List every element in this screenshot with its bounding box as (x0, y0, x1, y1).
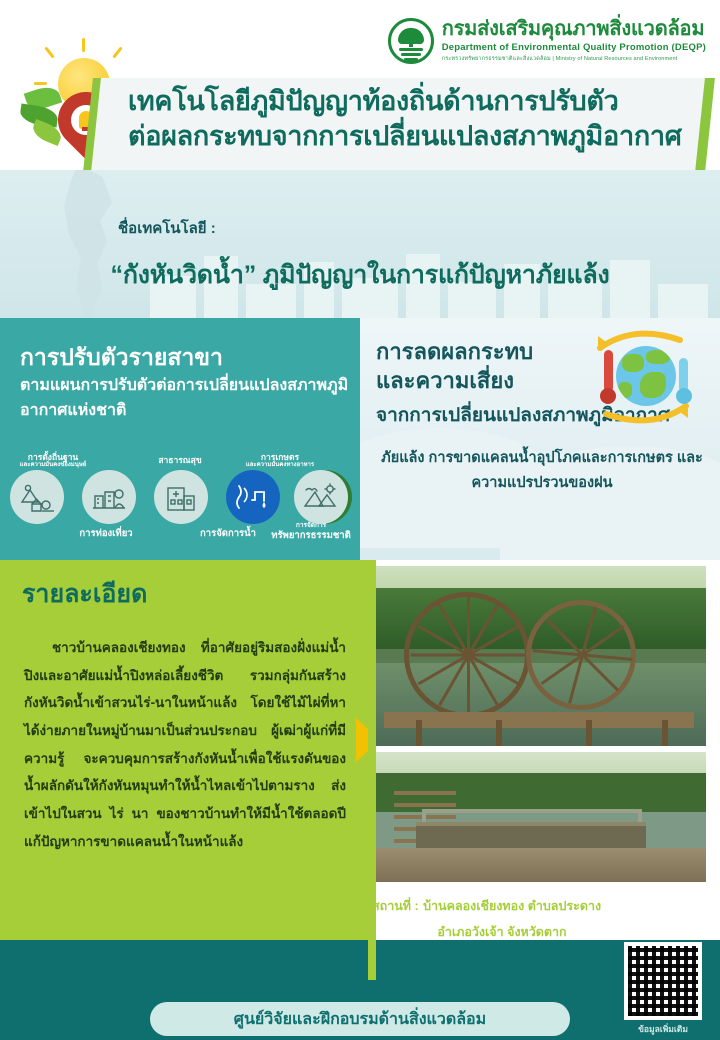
poster-title: เทคโนโลยีภูมิปัญญาท้องถิ่นด้านการปรับตัว… (128, 84, 708, 153)
details-panel: รายละเอียด ชาวบ้านคลองเชียงทอง ที่อาศัยอ… (0, 560, 368, 980)
footer-organization-label: ศูนย์วิจัยและฝึกอบรมด้านสิ่งแวดล้อม (234, 1007, 486, 1032)
water-management-icon[interactable] (226, 470, 280, 524)
sector-label-natural-resources: การจัดการ ทรัพยากรธรรมชาติ (262, 522, 360, 541)
deqp-logo: กรมส่งเสริมคุณภาพสิ่งแวดล้อม Department … (388, 18, 706, 64)
bamboo-water-wheel-photo (376, 566, 706, 746)
org-name-english: Department of Environmental Quality Prom… (442, 42, 706, 53)
settlement-icon[interactable] (10, 470, 64, 524)
impact-risk-panel: การลดผลกระทบ และความเสี่ยง จากการเปลี่ยน… (360, 318, 720, 560)
impact-panel-heading: การลดผลกระทบ และความเสี่ยง (376, 338, 533, 395)
title-line-2: ต่อผลกระทบจากการเปลี่ยนแปลงสภาพภูมิอากาศ (128, 119, 708, 154)
sector-label-settlement: การตั้งถิ่นฐาน และความมั่นคงของมนุษย์ (4, 452, 102, 469)
footer-organization-pill: ศูนย์วิจัยและฝึกอบรมด้านสิ่งแวดล้อม (150, 1002, 570, 1036)
technology-label: ชื่อเทคโนโลยี : (118, 216, 216, 240)
org-ministry-line: กระทรวงทรัพยากรธรรมชาติและสิ่งแวดล้อม | … (442, 55, 706, 63)
location-block: สถานที่ : บ้านคลองเชียงทอง ตำบลประดาง อำ… (372, 896, 672, 942)
deqp-emblem-icon (388, 18, 434, 64)
sector-label-health: สาธารณสุข (140, 455, 220, 465)
water-wheel-raft-photo (376, 752, 706, 882)
sector-panel-heading: การปรับตัวรายสาขา (20, 340, 223, 376)
bottom-teal-strip (0, 940, 720, 982)
qr-caption: ข้อมูลเพิ่มเติม (624, 1022, 702, 1036)
location-line-2: อำเภอวังเจ้า จังหวัดตาก (372, 922, 672, 942)
details-body-text: ชาวบ้านคลองเชียงทอง ที่อาศัยอยู่ริมสองฝั… (24, 634, 346, 855)
sector-label-tourism: การท่องเที่ยว (56, 528, 156, 539)
natural-resources-icon[interactable] (294, 470, 348, 524)
impact-panel-body: ภัยแล้ง การขาดแคลนน้ำอุปโภคและการเกษตร แ… (374, 446, 710, 497)
poster-root: กรมส่งเสริมคุณภาพสิ่งแวดล้อม Department … (0, 0, 720, 1040)
globe-thermometer-icon (582, 330, 702, 424)
poster-header: กรมส่งเสริมคุณภาพสิ่งแวดล้อม Department … (0, 0, 720, 190)
technology-name: “กังหันวิดน้ำ” ภูมิปัญญาในการแก้ปัญหาภัย… (0, 255, 720, 295)
location-line-1: บ้านคลองเชียงทอง ตำบลประดาง (423, 899, 601, 913)
title-line-1: เทคโนโลยีภูมิปัญญาท้องถิ่นด้านการปรับตัว (128, 84, 708, 119)
location-label: สถานที่ : (372, 899, 419, 913)
org-name-thai: กรมส่งเสริมคุณภาพสิ่งแวดล้อม (442, 18, 706, 41)
health-icon[interactable] (154, 470, 208, 524)
qr-code[interactable] (624, 942, 702, 1020)
details-heading: รายละเอียด (22, 574, 147, 614)
sector-panel-subheading: ตามแผนการปรับตัวต่อการเปลี่ยนแปลงสภาพภูม… (20, 374, 350, 424)
tourism-icon[interactable] (82, 470, 136, 524)
sector-label-agriculture: การเกษตร และความมั่นคงทางอาหาร (228, 452, 332, 469)
technology-name-band (0, 170, 720, 318)
